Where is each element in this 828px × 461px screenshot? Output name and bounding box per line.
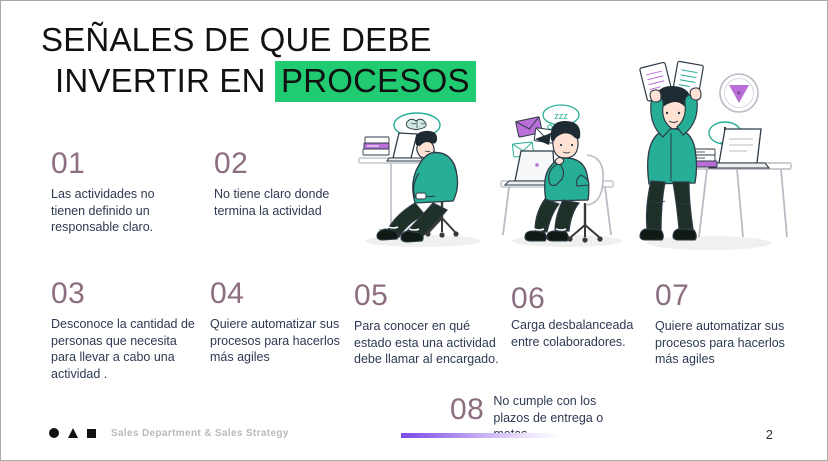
item-number: 01 — [51, 147, 191, 181]
item-number: 04 — [210, 277, 350, 311]
item-number: 08 — [450, 393, 484, 427]
item-text: Quiere automatizar sus procesos para hac… — [210, 316, 350, 366]
footer-label: Sales Department & Sales Strategy — [111, 428, 289, 440]
list-item: 03 Desconoce la cantidad de personas que… — [51, 277, 199, 382]
triangle-shape — [68, 428, 78, 438]
item-text: Desconoce la cantidad de personas que ne… — [51, 316, 199, 382]
item-text: Quiere automatizar sus procesos para hac… — [655, 318, 795, 368]
item-text: Carga desbalanceada entre colaboradores. — [511, 317, 659, 350]
title-line-2: INVERTIR EN PROCESOS — [41, 60, 521, 101]
gradient-accent-bar — [401, 433, 561, 438]
slide-canvas: SEÑALES DE QUE DEBE INVERTIR EN PROCESOS — [0, 0, 828, 461]
item-text: Para conocer en qué estado esta una acti… — [354, 318, 504, 368]
circle-shape — [49, 428, 59, 438]
list-item: 07 Quiere automatizar sus procesos para … — [655, 279, 795, 368]
title-highlight: PROCESOS — [275, 61, 476, 102]
item-number: 03 — [51, 277, 199, 311]
item-number: 06 — [511, 282, 659, 316]
list-item: 04 Quiere automatizar sus procesos para … — [210, 277, 350, 366]
item-text: Las actividades no tienen definido un re… — [51, 186, 191, 236]
item-number: 05 — [354, 279, 504, 313]
square-shape — [87, 429, 96, 438]
item-number: 02 — [214, 147, 357, 181]
svg-text:zzz: zzz — [554, 111, 568, 121]
floor-shadow — [647, 236, 771, 250]
item-number: 07 — [655, 279, 795, 313]
title-line-1: SEÑALES DE QUE DEBE — [41, 19, 521, 60]
desk — [685, 163, 791, 237]
stressed-person — [640, 86, 701, 240]
item-text: No tiene claro donde termina la activida… — [214, 186, 357, 219]
title-line-2-prefix: INVERTIR EN — [55, 62, 266, 99]
list-item: 05 Para conocer en qué estado esta una a… — [354, 279, 504, 368]
page-number: 2 — [766, 427, 773, 442]
list-item: 02 No tiene claro donde termina la activ… — [214, 147, 357, 219]
list-item: 06 Carga desbalanceada entre colaborador… — [511, 282, 659, 350]
list-item: 01 Las actividades no tienen definido un… — [51, 147, 191, 236]
person-overwhelmed-with-papers-illustration — [621, 51, 801, 266]
clock-icon — [720, 74, 758, 112]
person-asleep-at-desk-illustration — [341, 111, 501, 261]
page-title: SEÑALES DE QUE DEBE INVERTIR EN PROCESOS — [41, 19, 521, 101]
footer-shape-group — [49, 428, 96, 438]
book-stack — [363, 137, 389, 155]
